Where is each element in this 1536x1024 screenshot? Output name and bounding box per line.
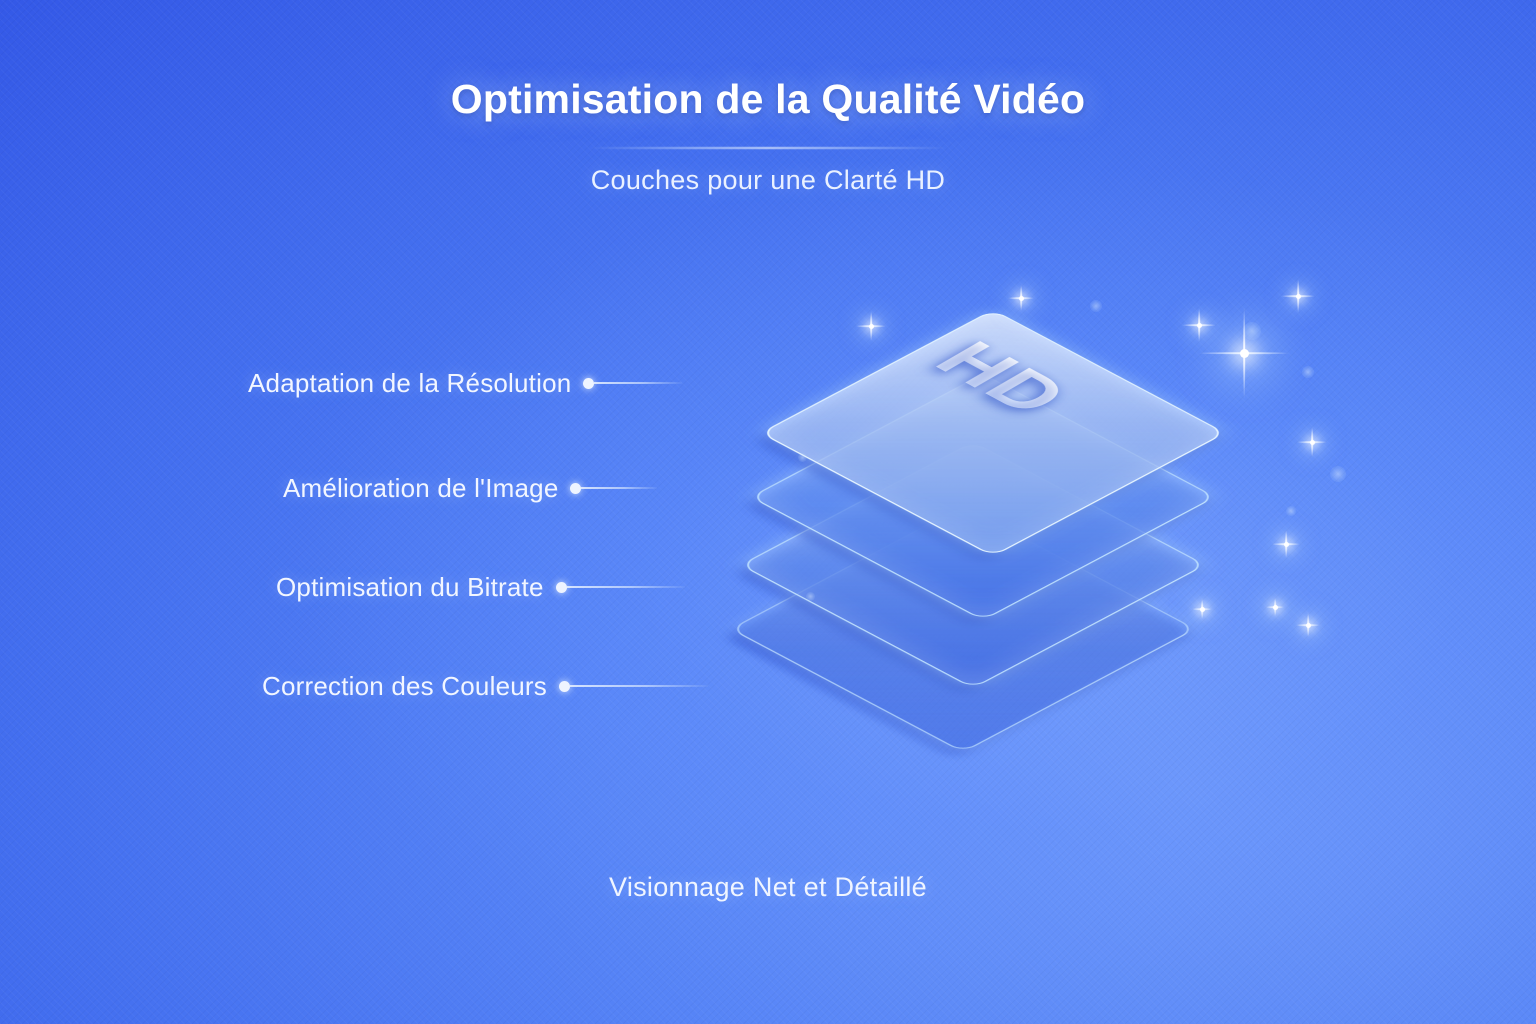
connector-dot-icon	[570, 483, 581, 494]
layer-label-item[interactable]: Optimisation du Bitrate	[276, 567, 685, 607]
connector-dot-icon	[583, 378, 594, 389]
layer-label-text: Correction des Couleurs	[262, 671, 547, 702]
connector-leader	[583, 378, 682, 389]
connector-leader	[559, 681, 708, 692]
layer-label-text: Optimisation du Bitrate	[276, 572, 544, 603]
layer-label-item[interactable]: Amélioration de l'Image	[283, 468, 657, 508]
footer-caption: Visionnage Net et Détaillé	[0, 872, 1536, 903]
connector-dot-icon	[556, 582, 567, 593]
connector-line	[567, 586, 685, 588]
layer-label-item[interactable]: Adaptation de la Résolution	[248, 363, 682, 403]
connector-leader	[556, 582, 685, 593]
connector-dot-icon	[559, 681, 570, 692]
layer-label-text: Amélioration de l'Image	[283, 473, 558, 504]
poster-canvas: Optimisation de la Qualité Vidéo Couches…	[0, 0, 1536, 1024]
connector-line	[570, 685, 708, 687]
layer-label-item[interactable]: Correction des Couleurs	[262, 666, 708, 706]
connector-line	[581, 487, 657, 489]
connector-leader	[570, 483, 657, 494]
layer-label-text: Adaptation de la Résolution	[248, 368, 571, 399]
connector-line	[594, 382, 682, 384]
